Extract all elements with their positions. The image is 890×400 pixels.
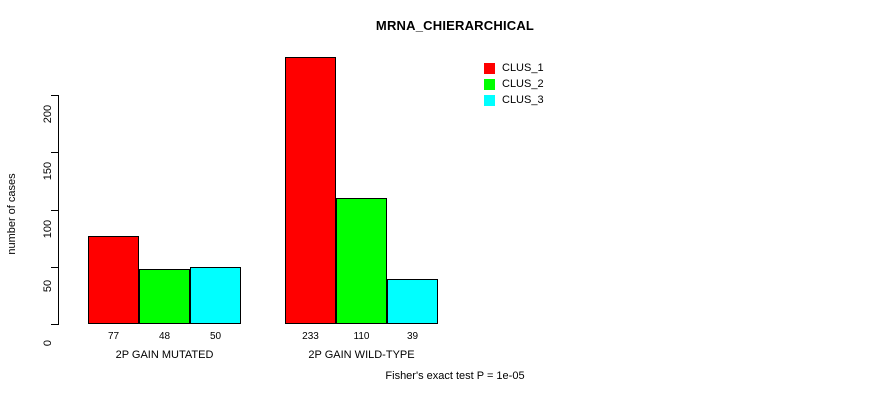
legend-label: CLUS_2	[502, 78, 544, 90]
legend-color-swatch	[484, 63, 495, 74]
legend-item: CLUS_2	[484, 76, 544, 92]
bar[interactable]	[285, 57, 336, 324]
group-label: 2P GAIN WILD-TYPE	[245, 349, 478, 361]
bar[interactable]	[139, 269, 190, 324]
legend-label: CLUS_3	[502, 94, 544, 106]
legend-color-swatch	[484, 79, 495, 90]
bar-value-label: 233	[285, 331, 336, 342]
bar[interactable]	[336, 198, 387, 324]
legend-color-swatch	[484, 95, 495, 106]
bar-value-label: 48	[139, 331, 190, 342]
bar-value-label: 50	[190, 331, 241, 342]
legend-label: CLUS_1	[502, 62, 544, 74]
bar-value-label: 77	[88, 331, 139, 342]
legend: CLUS_1CLUS_2CLUS_3	[484, 60, 544, 108]
legend-item: CLUS_1	[484, 60, 544, 76]
plot-area: 7748502P GAIN MUTATED233110392P GAIN WIL…	[0, 0, 890, 400]
bar-value-label: 39	[387, 331, 438, 342]
footer-note: Fisher's exact test P = 1e-05	[0, 370, 890, 382]
bar-value-label: 110	[336, 331, 387, 342]
bar[interactable]	[387, 279, 438, 324]
bar[interactable]	[190, 267, 241, 324]
bar[interactable]	[88, 236, 139, 324]
legend-item: CLUS_3	[484, 92, 544, 108]
bar-chart-figure: MRNA_CHIERARCHICAL number of cases 05010…	[0, 0, 890, 400]
